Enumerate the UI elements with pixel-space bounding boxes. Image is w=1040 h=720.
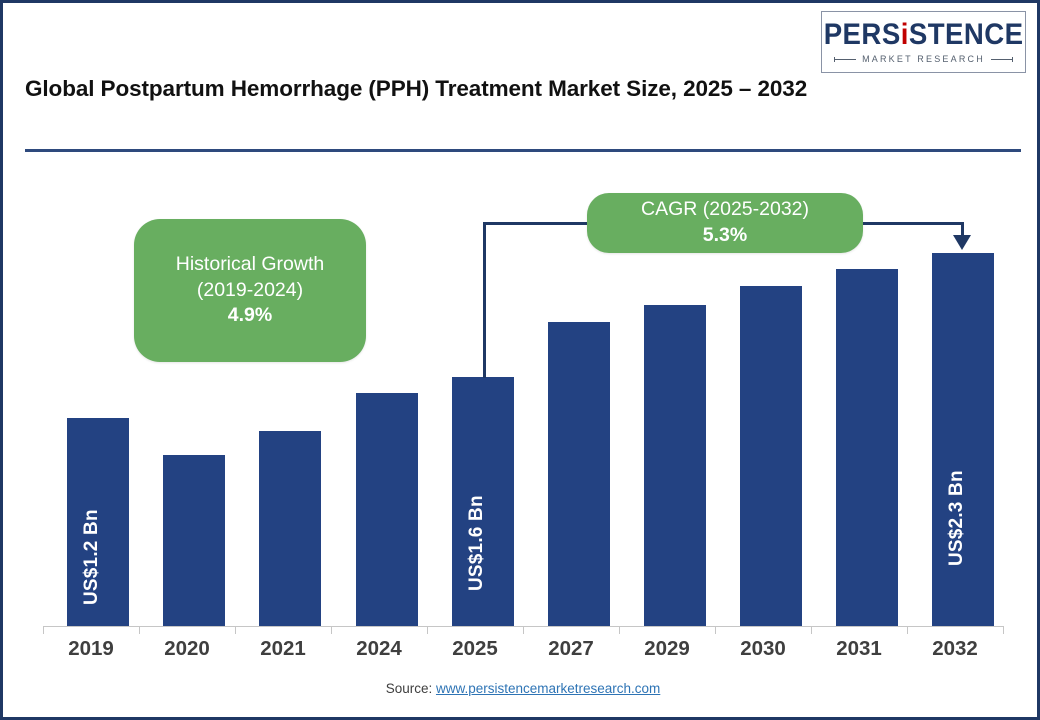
- axis-tick: [907, 626, 908, 634]
- bar-2029: [644, 305, 706, 626]
- source-line: Source: www.persistencemarketresearch.co…: [3, 681, 1040, 696]
- cagr-callout: CAGR (2025-2032) 5.3%: [587, 193, 863, 253]
- cagr-arrow-down-icon: [953, 235, 971, 250]
- x-axis-label-2024: 2024: [331, 637, 427, 661]
- historical-growth-title: Historical Growth: [176, 252, 324, 278]
- bar-value-label-2019: US$1.2 Bn: [81, 509, 103, 605]
- bar-2024: [356, 393, 418, 626]
- chart-page: PERSiSTENCE MARKET RESEARCH Global Postp…: [0, 0, 1040, 720]
- bar-value-label-2032: US$2.3 Bn: [946, 470, 968, 566]
- bar-2027: [548, 322, 610, 626]
- x-axis-label-2019: 2019: [43, 637, 139, 661]
- source-link[interactable]: www.persistencemarketresearch.com: [436, 681, 660, 696]
- source-prefix: Source:: [386, 681, 436, 696]
- x-axis-label-2025: 2025: [427, 637, 523, 661]
- x-axis-label-2032: 2032: [907, 637, 1003, 661]
- axis-tick: [523, 626, 524, 634]
- bar-2032: [932, 253, 994, 626]
- historical-growth-callout: Historical Growth (2019-2024) 4.9%: [134, 219, 366, 362]
- axis-tick: [715, 626, 716, 634]
- axis-tick: [43, 626, 44, 634]
- x-axis-label-2029: 2029: [619, 637, 715, 661]
- chart-plot-area: US$1.2 Bn US$1.6 Bn US$2.3 Bn 2019 2020 …: [3, 3, 1040, 720]
- x-axis-label-2021: 2021: [235, 637, 331, 661]
- axis-tick: [811, 626, 812, 634]
- axis-tick: [619, 626, 620, 634]
- bar-value-label-2025: US$1.6 Bn: [466, 495, 488, 591]
- historical-growth-period: (2019-2024): [197, 278, 303, 304]
- cagr-connector-left-stem: [483, 222, 486, 378]
- historical-growth-value: 4.9%: [228, 303, 272, 329]
- axis-tick: [1003, 626, 1004, 634]
- cagr-title: CAGR (2025-2032): [641, 197, 809, 223]
- bar-2031: [836, 269, 898, 626]
- x-axis-label-2030: 2030: [715, 637, 811, 661]
- bar-2020: [163, 455, 225, 626]
- bar-2021: [259, 431, 321, 626]
- axis-tick: [139, 626, 140, 634]
- x-axis-label-2031: 2031: [811, 637, 907, 661]
- axis-tick: [427, 626, 428, 634]
- axis-tick: [235, 626, 236, 634]
- bar-2030: [740, 286, 802, 626]
- x-axis-label-2020: 2020: [139, 637, 235, 661]
- axis-tick: [331, 626, 332, 634]
- x-axis-label-2027: 2027: [523, 637, 619, 661]
- cagr-value: 5.3%: [703, 223, 747, 249]
